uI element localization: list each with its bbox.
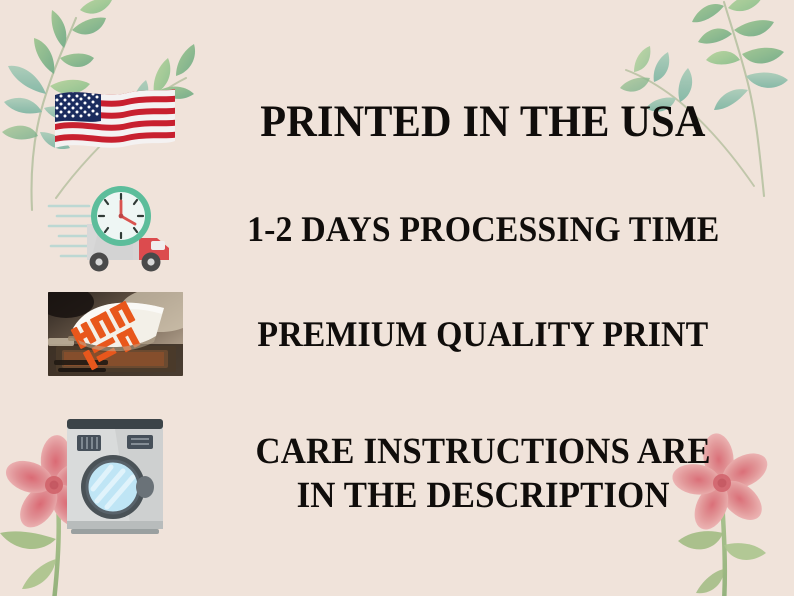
headline-care-instructions: CARE INSTRUCTIONS ARE IN THE DESCRIPTION xyxy=(255,430,710,517)
info-poster: PRINTED IN THE USA xyxy=(0,0,794,596)
usa-flag-icon xyxy=(51,85,179,159)
icon-cell-usa-flag xyxy=(0,85,230,159)
text-cell-usa: PRINTED IN THE USA xyxy=(230,95,794,148)
text-cell-care: CARE INSTRUCTIONS ARE IN THE DESCRIPTION xyxy=(230,430,794,517)
fast-delivery-clock-icon xyxy=(47,180,183,278)
feature-row-care: CARE INSTRUCTIONS ARE IN THE DESCRIPTION xyxy=(0,386,794,561)
feature-row-processing: 1-2 DAYS PROCESSING TIME xyxy=(0,176,794,282)
icon-cell-screen-print-photo xyxy=(0,292,230,376)
feature-row-usa: PRINTED IN THE USA xyxy=(0,68,794,176)
washing-machine-icon xyxy=(61,411,169,537)
screen-print-photo xyxy=(48,292,183,376)
headline-processing-time: 1-2 DAYS PROCESSING TIME xyxy=(247,208,719,250)
headline-premium-quality: PREMIUM QUALITY PRINT xyxy=(258,313,709,355)
feature-row-quality: PREMIUM QUALITY PRINT xyxy=(0,282,794,386)
headline-printed-in-usa: PRINTED IN THE USA xyxy=(260,95,705,148)
icon-cell-washing-machine xyxy=(0,411,230,537)
text-cell-quality: PREMIUM QUALITY PRINT xyxy=(230,313,794,355)
text-cell-processing: 1-2 DAYS PROCESSING TIME xyxy=(230,208,794,250)
icon-cell-fast-delivery xyxy=(0,180,230,278)
